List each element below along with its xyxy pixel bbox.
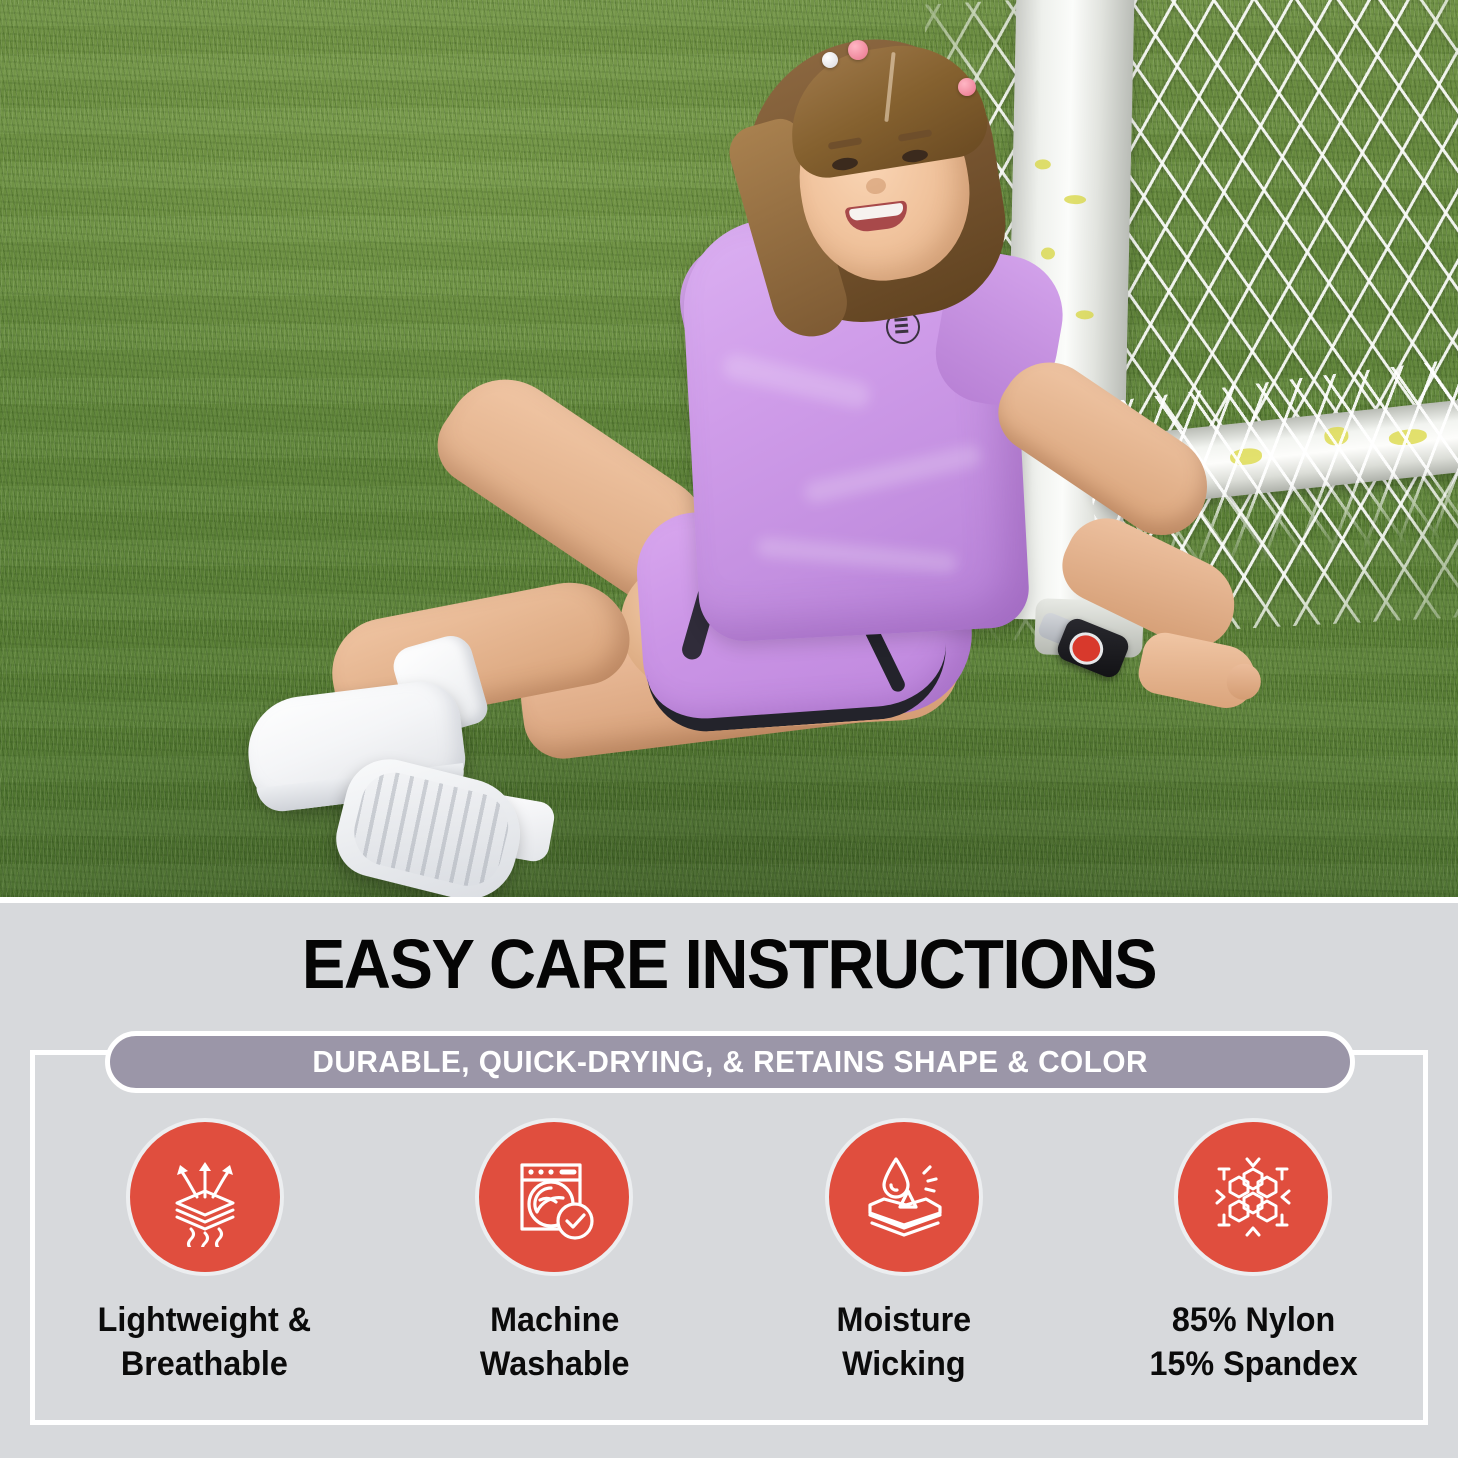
honeycomb-stretch-mesh-icon (1203, 1147, 1303, 1247)
photo-bottom-edge (0, 897, 1458, 900)
badge-circle (126, 1118, 284, 1276)
feature-list: Lightweight & Breathable (30, 1118, 1428, 1418)
badge-circle (475, 1118, 633, 1276)
sneaker-tread (347, 766, 515, 893)
sneaker-right (328, 750, 532, 900)
feature-moisture-wicking: Moisture Wicking (729, 1118, 1079, 1418)
feature-fabric-composition: 85% Nylon 15% Spandex (1079, 1118, 1429, 1418)
sport-watch (1054, 615, 1132, 681)
feature-label: 85% Nylon 15% Spandex (1149, 1298, 1357, 1386)
feature-label: Machine Washable (479, 1298, 629, 1386)
benefits-banner-text: DURABLE, QUICK-DRYING, & RETAINS SHAPE &… (312, 1044, 1148, 1080)
feature-label: Moisture Wicking (836, 1298, 971, 1386)
model-figure (0, 0, 1458, 900)
page-title: EASY CARE INSTRUCTIONS (51, 925, 1407, 1003)
fingernail (1240, 685, 1256, 699)
hand (1135, 629, 1261, 714)
breathable-fabric-layers-icon (155, 1147, 255, 1247)
feature-label: Lightweight & Breathable (98, 1298, 312, 1386)
hair-tie-pink-right (958, 78, 976, 96)
feature-lightweight-breathable: Lightweight & Breathable (30, 1118, 380, 1418)
hair-tie-white (822, 52, 838, 68)
hair-tie-pink-left (848, 40, 868, 60)
product-infographic: EASY CARE INSTRUCTIONS DURABLE, QUICK-DR… (0, 0, 1458, 1458)
badge-circle (1174, 1118, 1332, 1276)
teeth (849, 203, 904, 221)
badge-circle (825, 1118, 983, 1276)
washing-machine-check-icon (504, 1147, 604, 1247)
benefits-banner: DURABLE, QUICK-DRYING, & RETAINS SHAPE &… (105, 1031, 1355, 1093)
feature-machine-washable: Machine Washable (380, 1118, 730, 1418)
water-droplet-fabric-layers-icon (854, 1147, 954, 1247)
lifestyle-product-photo (0, 0, 1458, 900)
